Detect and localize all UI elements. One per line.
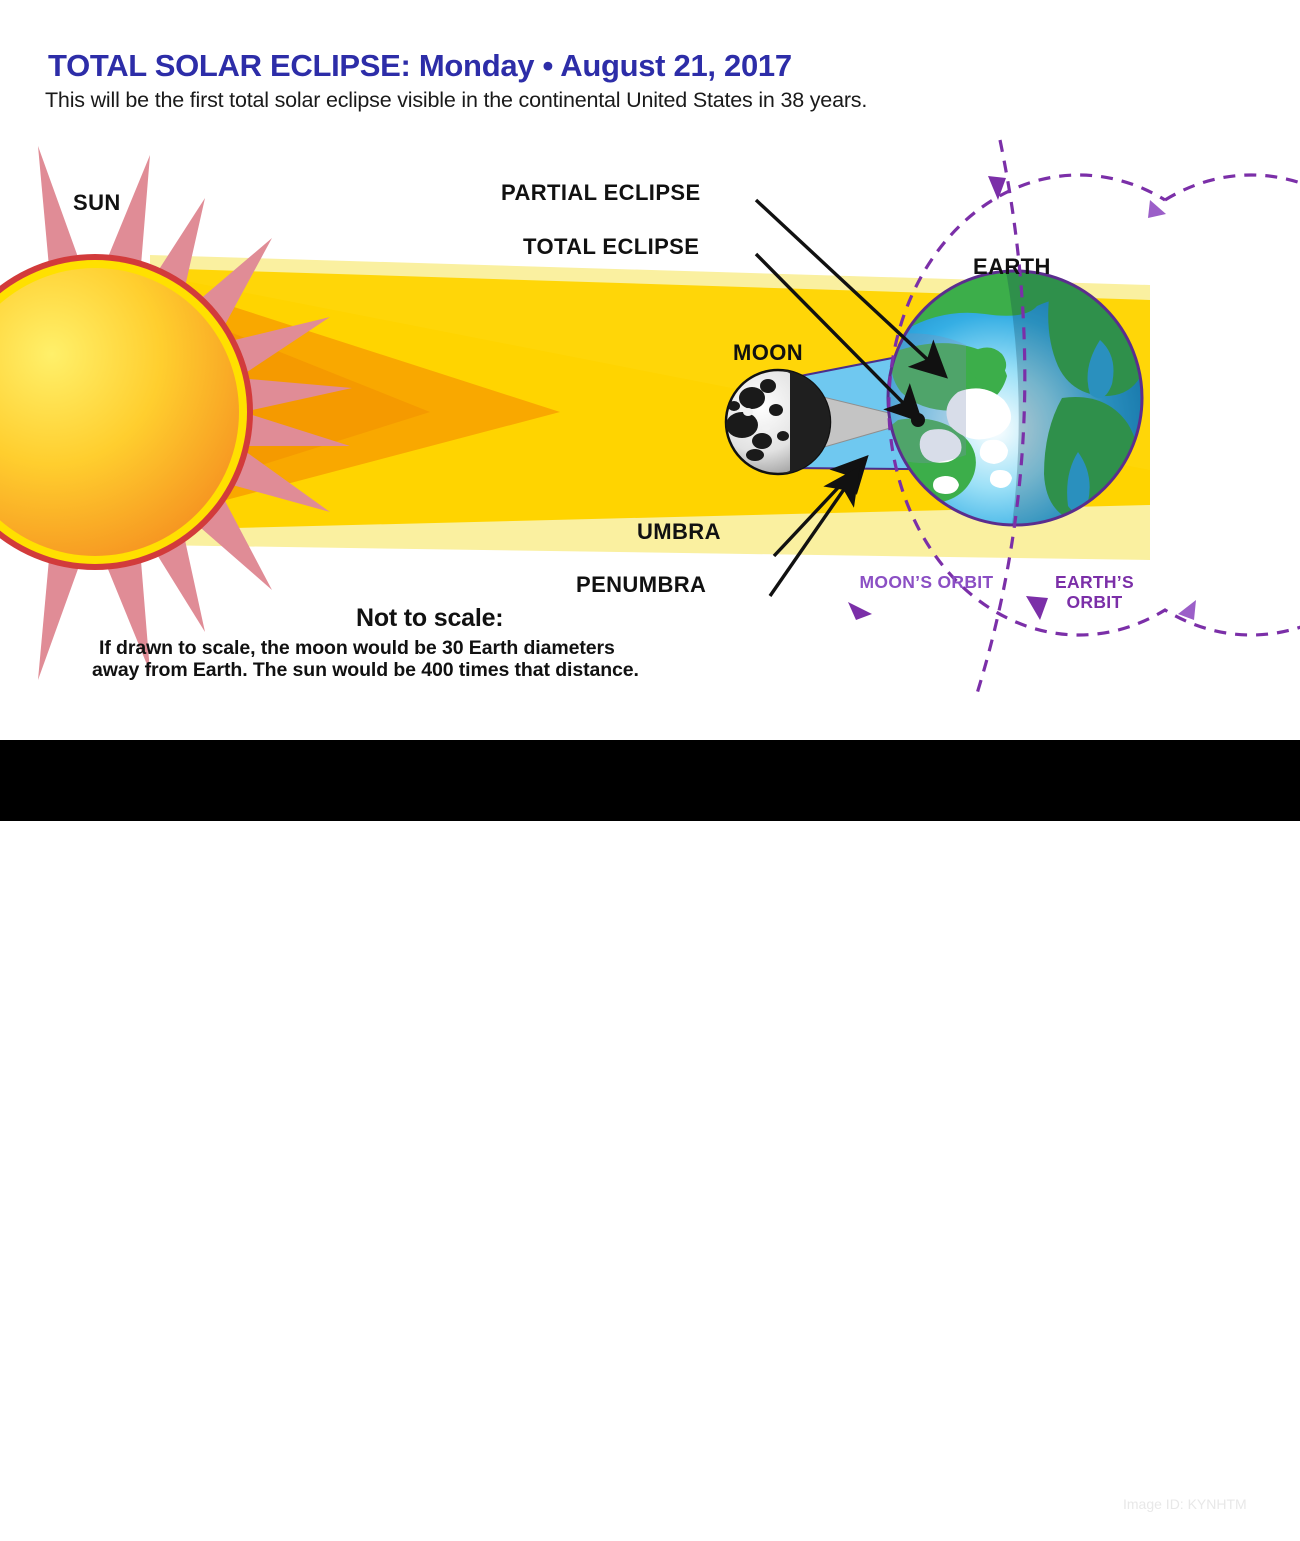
alamy-url-text: www.alamy.com	[1120, 1517, 1250, 1537]
eclipse-infographic: TOTAL SOLAR ECLIPSE: Monday • August 21,…	[0, 0, 1300, 821]
not-to-scale-line-1: If drawn to scale, the moon would be 30 …	[99, 637, 615, 660]
label-total-eclipse: TOTAL ECLIPSE	[523, 234, 699, 260]
label-earths-orbit: EARTH’S ORBIT	[1027, 572, 1162, 612]
label-moon: MOON	[733, 340, 803, 366]
image-id-text: Image ID: KYNHTM	[1123, 1496, 1247, 1512]
label-umbra: UMBRA	[637, 519, 721, 545]
watermark-bar: alamy Image ID: KYNHTM www.alamy.com	[0, 740, 1300, 821]
alamy-logo: alamy	[48, 1496, 118, 1541]
page-subtitle: This will be the first total solar eclip…	[45, 88, 867, 113]
page-title: TOTAL SOLAR ECLIPSE: Monday • August 21,…	[48, 48, 792, 84]
not-to-scale-line-2: away from Earth. The sun would be 400 ti…	[92, 659, 639, 682]
label-sun: SUN	[73, 190, 121, 216]
not-to-scale-heading: Not to scale:	[356, 604, 503, 633]
label-penumbra: PENUMBRA	[576, 572, 706, 598]
label-earth: EARTH	[973, 254, 1051, 280]
label-partial-eclipse: PARTIAL ECLIPSE	[501, 180, 701, 206]
label-moons-orbit: MOON’S ORBIT	[859, 572, 994, 592]
